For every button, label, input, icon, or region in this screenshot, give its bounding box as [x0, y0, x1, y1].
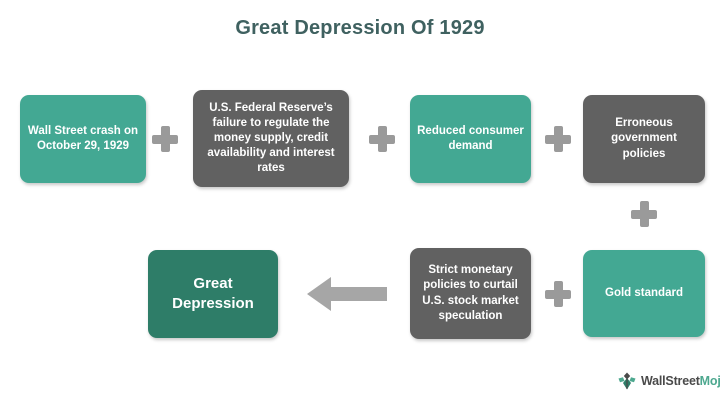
cause-box-reduced-consumer-demand: Reduced consumer demand — [410, 95, 531, 183]
cause-box-label: Reduced consumer demand — [417, 124, 524, 154]
logo-text: WallStreetMojo — [641, 374, 720, 388]
result-box-great-depression: Great Depression — [148, 250, 278, 338]
logo-text-secondary: Mojo — [700, 374, 720, 388]
cause-box-erroneous-government-policies: Erroneous government policies — [583, 95, 705, 183]
wallstreetmojo-logo-icon — [617, 371, 637, 391]
cause-box-label: Strict monetary policies to curtail U.S.… — [417, 263, 524, 324]
logo-text-primary: WallStreet — [641, 374, 700, 388]
infographic-canvas: Great Depression Of 1929 Wall Street cra… — [0, 0, 720, 404]
page-title: Great Depression Of 1929 — [0, 17, 720, 40]
cause-box-wall-street-crash: Wall Street crash on October 29, 1929 — [20, 95, 146, 183]
plus-icon-5 — [545, 281, 571, 307]
cause-box-strict-monetary-policies: Strict monetary policies to curtail U.S.… — [410, 248, 531, 339]
cause-box-label: U.S. Federal Reserve’s failure to regula… — [200, 101, 342, 177]
arrow-left-icon — [305, 272, 389, 316]
plus-icon-2 — [369, 126, 395, 152]
result-box-label: Great Depression — [155, 274, 271, 314]
plus-icon-4 — [631, 201, 657, 227]
cause-box-gold-standard: Gold standard — [583, 250, 705, 337]
cause-box-label: Erroneous government policies — [590, 116, 698, 162]
plus-icon-3 — [545, 126, 571, 152]
wallstreetmojo-logo: WallStreetMojo — [617, 371, 720, 391]
cause-box-label: Wall Street crash on October 29, 1929 — [27, 124, 139, 154]
cause-box-federal-reserve-failure: U.S. Federal Reserve’s failure to regula… — [193, 90, 349, 187]
cause-box-label: Gold standard — [605, 286, 683, 301]
plus-icon-1 — [152, 126, 178, 152]
